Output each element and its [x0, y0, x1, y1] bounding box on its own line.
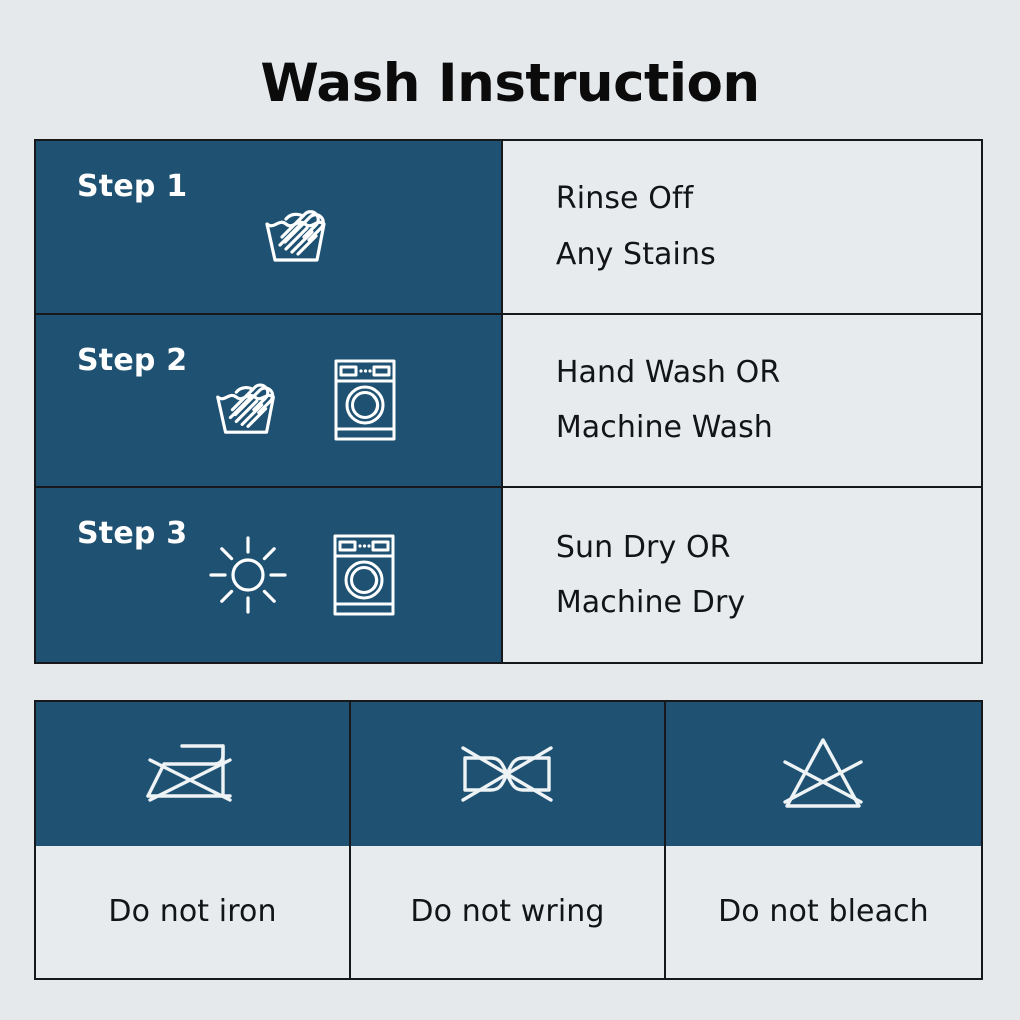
sun-icon [207, 534, 289, 616]
step-1-label: Step 1 [77, 169, 187, 204]
step-2-text-line-1: Hand Wash OR [556, 345, 981, 401]
wash-instruction-poster: Wash Instruction Step 1 [0, 0, 1020, 1020]
do-not-wring-symbol-panel [351, 702, 664, 846]
table-row: Step 3 [36, 488, 981, 662]
do-not-bleach-caption: Do not bleach [666, 846, 981, 978]
do-not-iron-caption: Do not iron [36, 846, 349, 978]
step-3-text-panel: Sun Dry OR Machine Dry [503, 488, 981, 662]
step-1-text-line-1: Rinse Off [556, 171, 981, 227]
do-not-iron-icon [138, 734, 246, 814]
step-3-text-line-2: Machine Dry [556, 575, 981, 631]
washing-machine-icon [330, 357, 400, 443]
do-not-wring-icon [451, 734, 563, 814]
step-3-label: Step 3 [77, 516, 187, 551]
page-title: Wash Instruction [0, 56, 1020, 112]
do-not-wring-caption: Do not wring [351, 846, 664, 978]
step-1-text-line-2: Any Stains [556, 227, 981, 283]
step-3-text-line-1: Sun Dry OR [556, 520, 981, 576]
step-2-icons [36, 315, 501, 487]
step-2-icon-panel: Step 2 [36, 315, 503, 487]
step-2-text-line-2: Machine Wash [556, 400, 981, 456]
care-cell-do-not-wring: Do not wring [351, 702, 666, 978]
hand-wash-icon [255, 184, 341, 270]
table-row: Step 2 [36, 315, 981, 489]
washing-machine-icon [329, 532, 399, 618]
hand-wash-icon [206, 358, 290, 442]
step-1-text-panel: Rinse Off Any Stains [503, 141, 981, 313]
step-1-icons [36, 141, 501, 313]
care-cell-do-not-iron: Do not iron [36, 702, 351, 978]
do-not-bleach-icon [775, 730, 871, 818]
steps-table: Step 1 [34, 139, 983, 664]
step-2-label: Step 2 [77, 343, 187, 378]
care-symbols-table: Do not iron Do not wring [34, 700, 983, 980]
step-3-icon-panel: Step 3 [36, 488, 503, 662]
step-2-text-panel: Hand Wash OR Machine Wash [503, 315, 981, 487]
care-cell-do-not-bleach: Do not bleach [666, 702, 981, 978]
do-not-iron-symbol-panel [36, 702, 349, 846]
do-not-bleach-symbol-panel [666, 702, 981, 846]
step-1-icon-panel: Step 1 [36, 141, 503, 313]
table-row: Step 1 [36, 141, 981, 315]
step-3-icons [36, 488, 501, 662]
